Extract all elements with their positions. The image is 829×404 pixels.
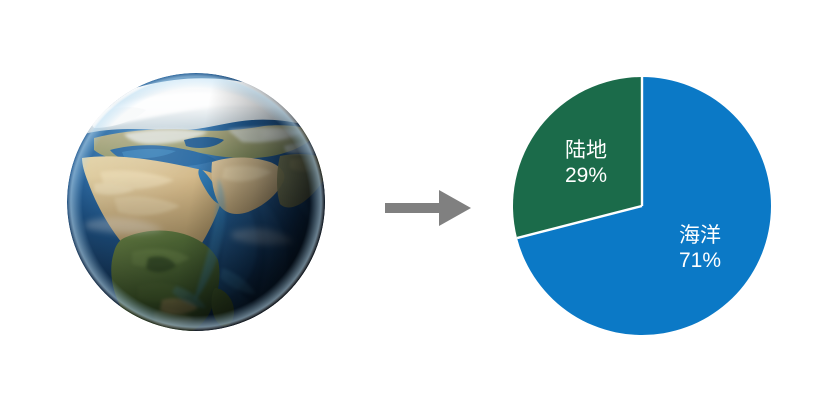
transition-arrow bbox=[383, 186, 473, 230]
earth-globe-image bbox=[66, 72, 326, 332]
arrow-shape bbox=[385, 190, 471, 226]
pie-chart-svg bbox=[512, 76, 772, 336]
land-ocean-pie-chart bbox=[512, 76, 772, 336]
slide-canvas: 陆地 29% 海洋 71% bbox=[0, 0, 829, 404]
arrow-right-icon bbox=[383, 186, 473, 230]
earth-globe-svg bbox=[66, 72, 326, 332]
atmosphere-rim bbox=[67, 73, 325, 331]
